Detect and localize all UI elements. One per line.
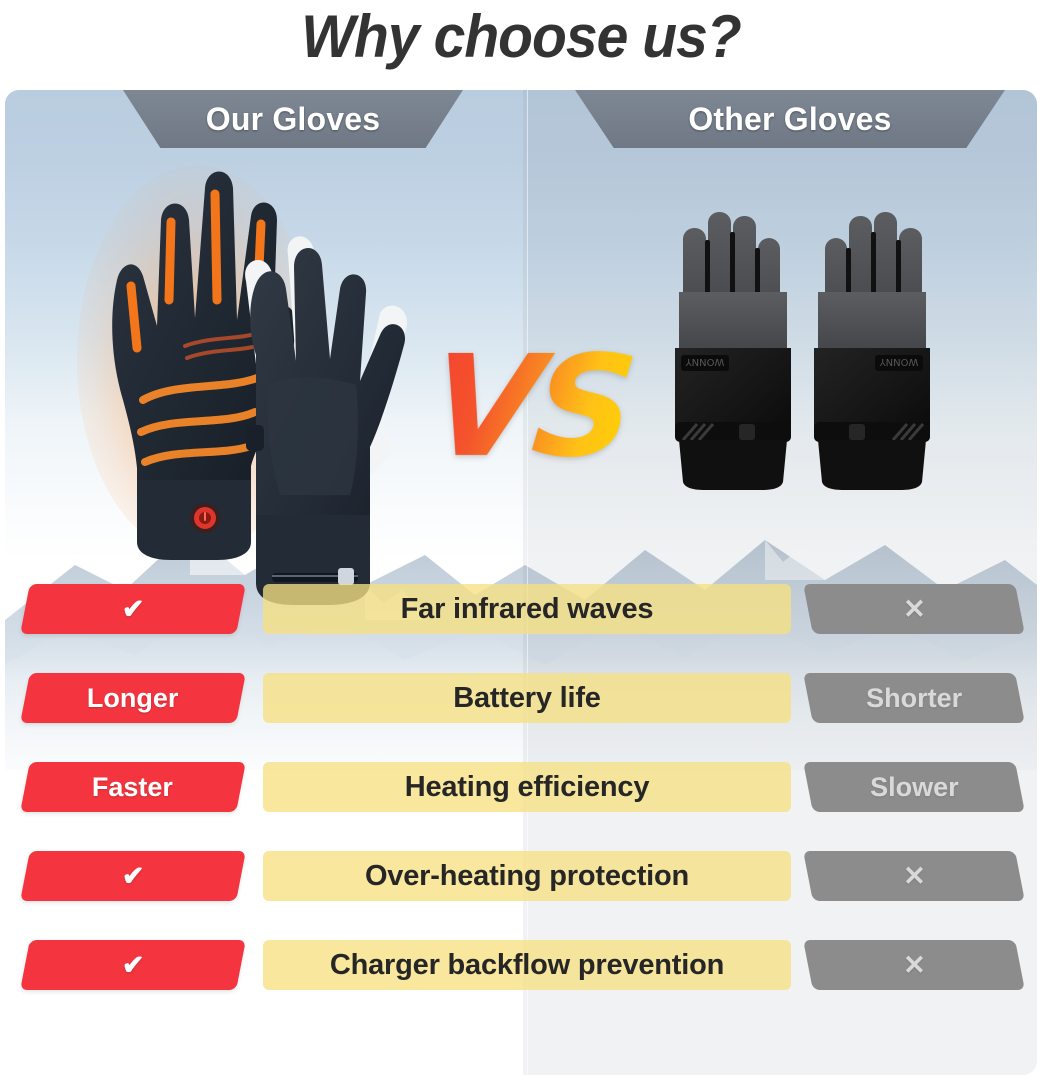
comparison-infographic: Why choose us? (0, 0, 1042, 1080)
column-header-our-gloves: Our Gloves (123, 90, 463, 148)
page-title: Why choose us? (26, 2, 1016, 71)
other-gloves-label: Other Gloves (688, 101, 891, 138)
other-value-text: Shorter (866, 683, 962, 714)
table-row: Longer Battery life Shorter (5, 654, 1037, 742)
svg-text:WONNY: WONNY (879, 356, 919, 367)
versus-graphic: VS (415, 335, 645, 480)
our-value-text: Longer (87, 683, 179, 714)
other-ski-glove-left-image: WONNY (665, 200, 800, 490)
comparison-rows: ✔ Far infrared waves ✕ Longer Battery li… (5, 565, 1037, 1010)
table-row: ✔ Over-heating protection ✕ (5, 832, 1037, 920)
table-row: Faster Heating efficiency Slower (5, 743, 1037, 831)
other-value-badge: Shorter (803, 673, 1025, 723)
feature-label: Battery life (263, 673, 791, 723)
other-value-badge: ✕ (803, 940, 1025, 990)
cross-icon: ✕ (903, 952, 926, 979)
our-value-badge: ✔ (20, 851, 246, 901)
svg-text:WONNY: WONNY (685, 356, 725, 367)
other-value-text: Slower (870, 772, 959, 803)
our-value-text: Faster (92, 772, 173, 803)
our-gloves-label: Our Gloves (206, 101, 381, 138)
feature-label: Charger backflow prevention (263, 940, 791, 990)
table-row: ✔ Charger backflow prevention ✕ (5, 921, 1037, 1009)
other-ski-glove-right-image: WONNY (805, 200, 940, 490)
other-value-badge: Slower (803, 762, 1025, 812)
our-touchscreen-glove-image (210, 185, 440, 605)
cross-icon: ✕ (903, 596, 926, 623)
our-value-badge: ✔ (20, 940, 246, 990)
feature-label: Heating efficiency (263, 762, 791, 812)
feature-label: Far infrared waves (263, 584, 791, 634)
cross-icon: ✕ (903, 863, 926, 890)
column-header-other-gloves: Other Gloves (575, 90, 1005, 148)
feature-label: Over-heating protection (263, 851, 791, 901)
other-value-badge: ✕ (803, 851, 1025, 901)
other-value-badge: ✕ (803, 584, 1025, 634)
check-icon: ✔ (122, 596, 145, 623)
our-value-badge: Longer (20, 673, 246, 723)
check-icon: ✔ (122, 952, 145, 979)
check-icon: ✔ (122, 863, 145, 890)
table-row: ✔ Far infrared waves ✕ (5, 565, 1037, 653)
our-value-badge: ✔ (20, 584, 246, 634)
our-value-badge: Faster (20, 762, 246, 812)
comparison-panel: WONNY WO (5, 90, 1037, 1075)
